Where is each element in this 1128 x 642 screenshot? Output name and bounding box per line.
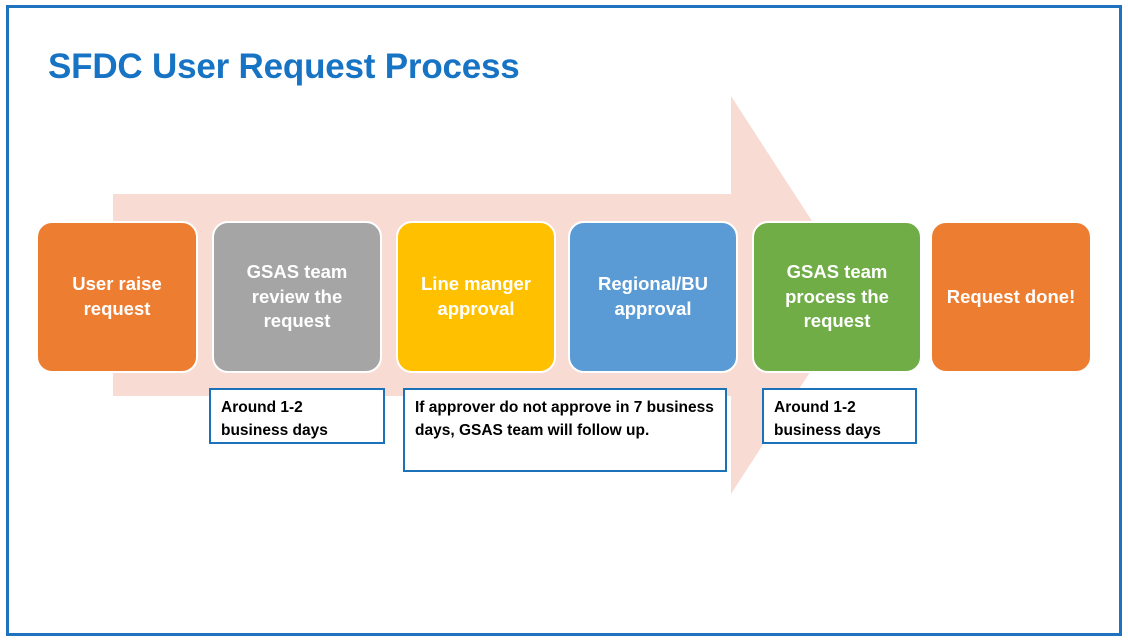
process-step-regional-bu-approval[interactable]: Regional/BU approval — [568, 221, 738, 373]
process-step-gsas-team-review[interactable]: GSAS team review the request — [212, 221, 382, 373]
process-step-label: Regional/BU approval — [578, 272, 728, 321]
process-step-user-raise-request[interactable]: User raise request — [36, 221, 198, 373]
process-step-label: Line manger approval — [406, 272, 546, 321]
slide-canvas: SFDC User Request Process User raise req… — [0, 0, 1128, 642]
note-gsas-process-sla: Around 1-2 business days — [762, 388, 917, 444]
process-step-label: User raise request — [46, 272, 188, 321]
process-step-gsas-team-process[interactable]: GSAS team process the request — [752, 221, 922, 373]
process-step-label: Request done! — [940, 285, 1082, 310]
note-gsas-review-sla: Around 1-2 business days — [209, 388, 385, 444]
process-step-label: GSAS team process the request — [762, 260, 912, 334]
page-title: SFDC User Request Process — [48, 47, 520, 87]
process-step-label: GSAS team review the request — [222, 260, 372, 334]
process-step-request-done[interactable]: Request done! — [930, 221, 1092, 373]
note-approval-followup: If approver do not approve in 7 business… — [403, 388, 727, 472]
process-steps: User raise request GSAS team review the … — [36, 221, 1092, 373]
process-step-line-manager-approval[interactable]: Line manger approval — [396, 221, 556, 373]
